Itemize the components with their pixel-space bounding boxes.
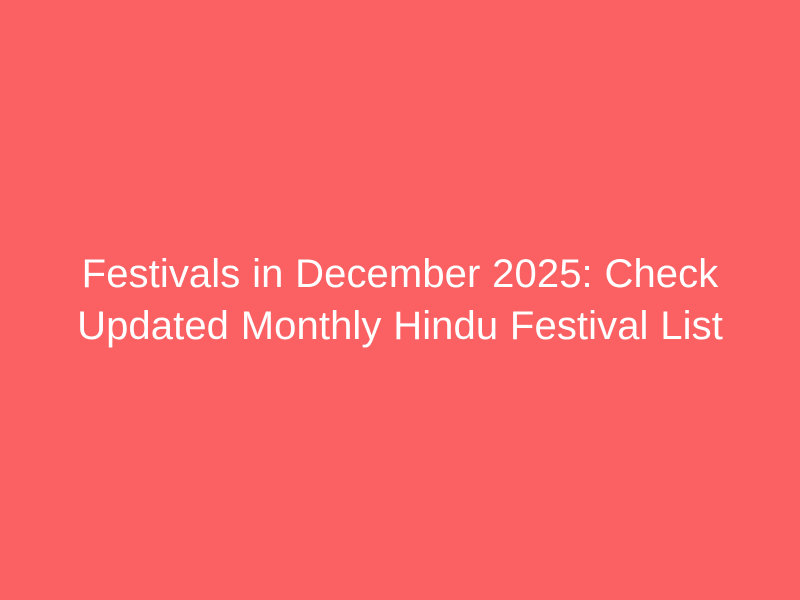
page-title: Festivals in December 2025: Check Update… [50,248,750,352]
title-card: Festivals in December 2025: Check Update… [0,0,800,600]
headline-block: Festivals in December 2025: Check Update… [50,248,750,352]
